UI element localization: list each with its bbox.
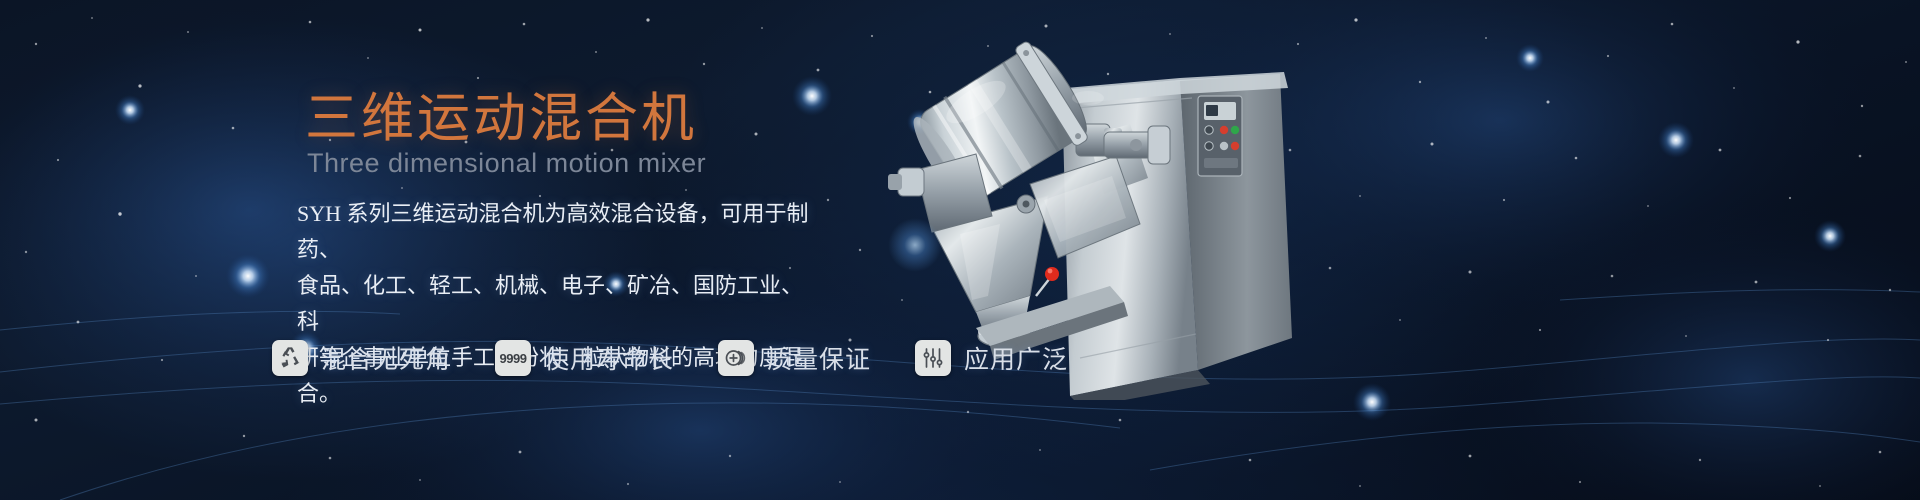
description-line-2: 食品、化工、轻工、机械、电子、矿冶、国防工业、科 — [297, 268, 817, 340]
feature-label-lifespan: 使用寿命长 — [544, 340, 674, 376]
lifespan-icon-text: 9999 — [500, 351, 527, 366]
page-subtitle: Three dimensional motion mixer — [307, 148, 706, 179]
lifespan-9999-icon: 9999 — [495, 340, 531, 376]
quality-guarantee-icon — [718, 340, 754, 376]
feature-item-application[interactable]: 应用广泛 — [915, 340, 1068, 376]
sliders-icon — [915, 340, 951, 376]
control-panel — [1198, 96, 1242, 176]
feature-label-mixing: 混合无死角 — [321, 340, 451, 376]
page-title: 三维运动混合机 — [305, 76, 697, 152]
valve-handle — [1036, 267, 1059, 296]
mid-flange — [888, 154, 992, 232]
feature-label-application: 应用广泛 — [964, 340, 1068, 376]
feature-label-quality: 质量保证 — [767, 340, 871, 376]
shaft-housing — [1104, 126, 1170, 164]
feature-list: 混合无死角 9999 使用寿命长 质量保证 — [272, 340, 1068, 376]
product-hero-banner: 三维运动混合机 Three dimensional motion mixer S… — [0, 0, 1920, 500]
feature-item-lifespan[interactable]: 9999 使用寿命长 — [495, 340, 674, 376]
recycle-icon — [272, 340, 308, 376]
feature-item-quality[interactable]: 质量保证 — [718, 340, 871, 376]
product-description: SYH 系列三维运动混合机为高效混合设备，可用于制药、 食品、化工、轻工、机械、… — [297, 196, 817, 412]
description-line-1: SYH 系列三维运动混合机为高效混合设备，可用于制药、 — [297, 196, 817, 268]
feature-item-mixing[interactable]: 混合无死角 — [272, 340, 451, 376]
